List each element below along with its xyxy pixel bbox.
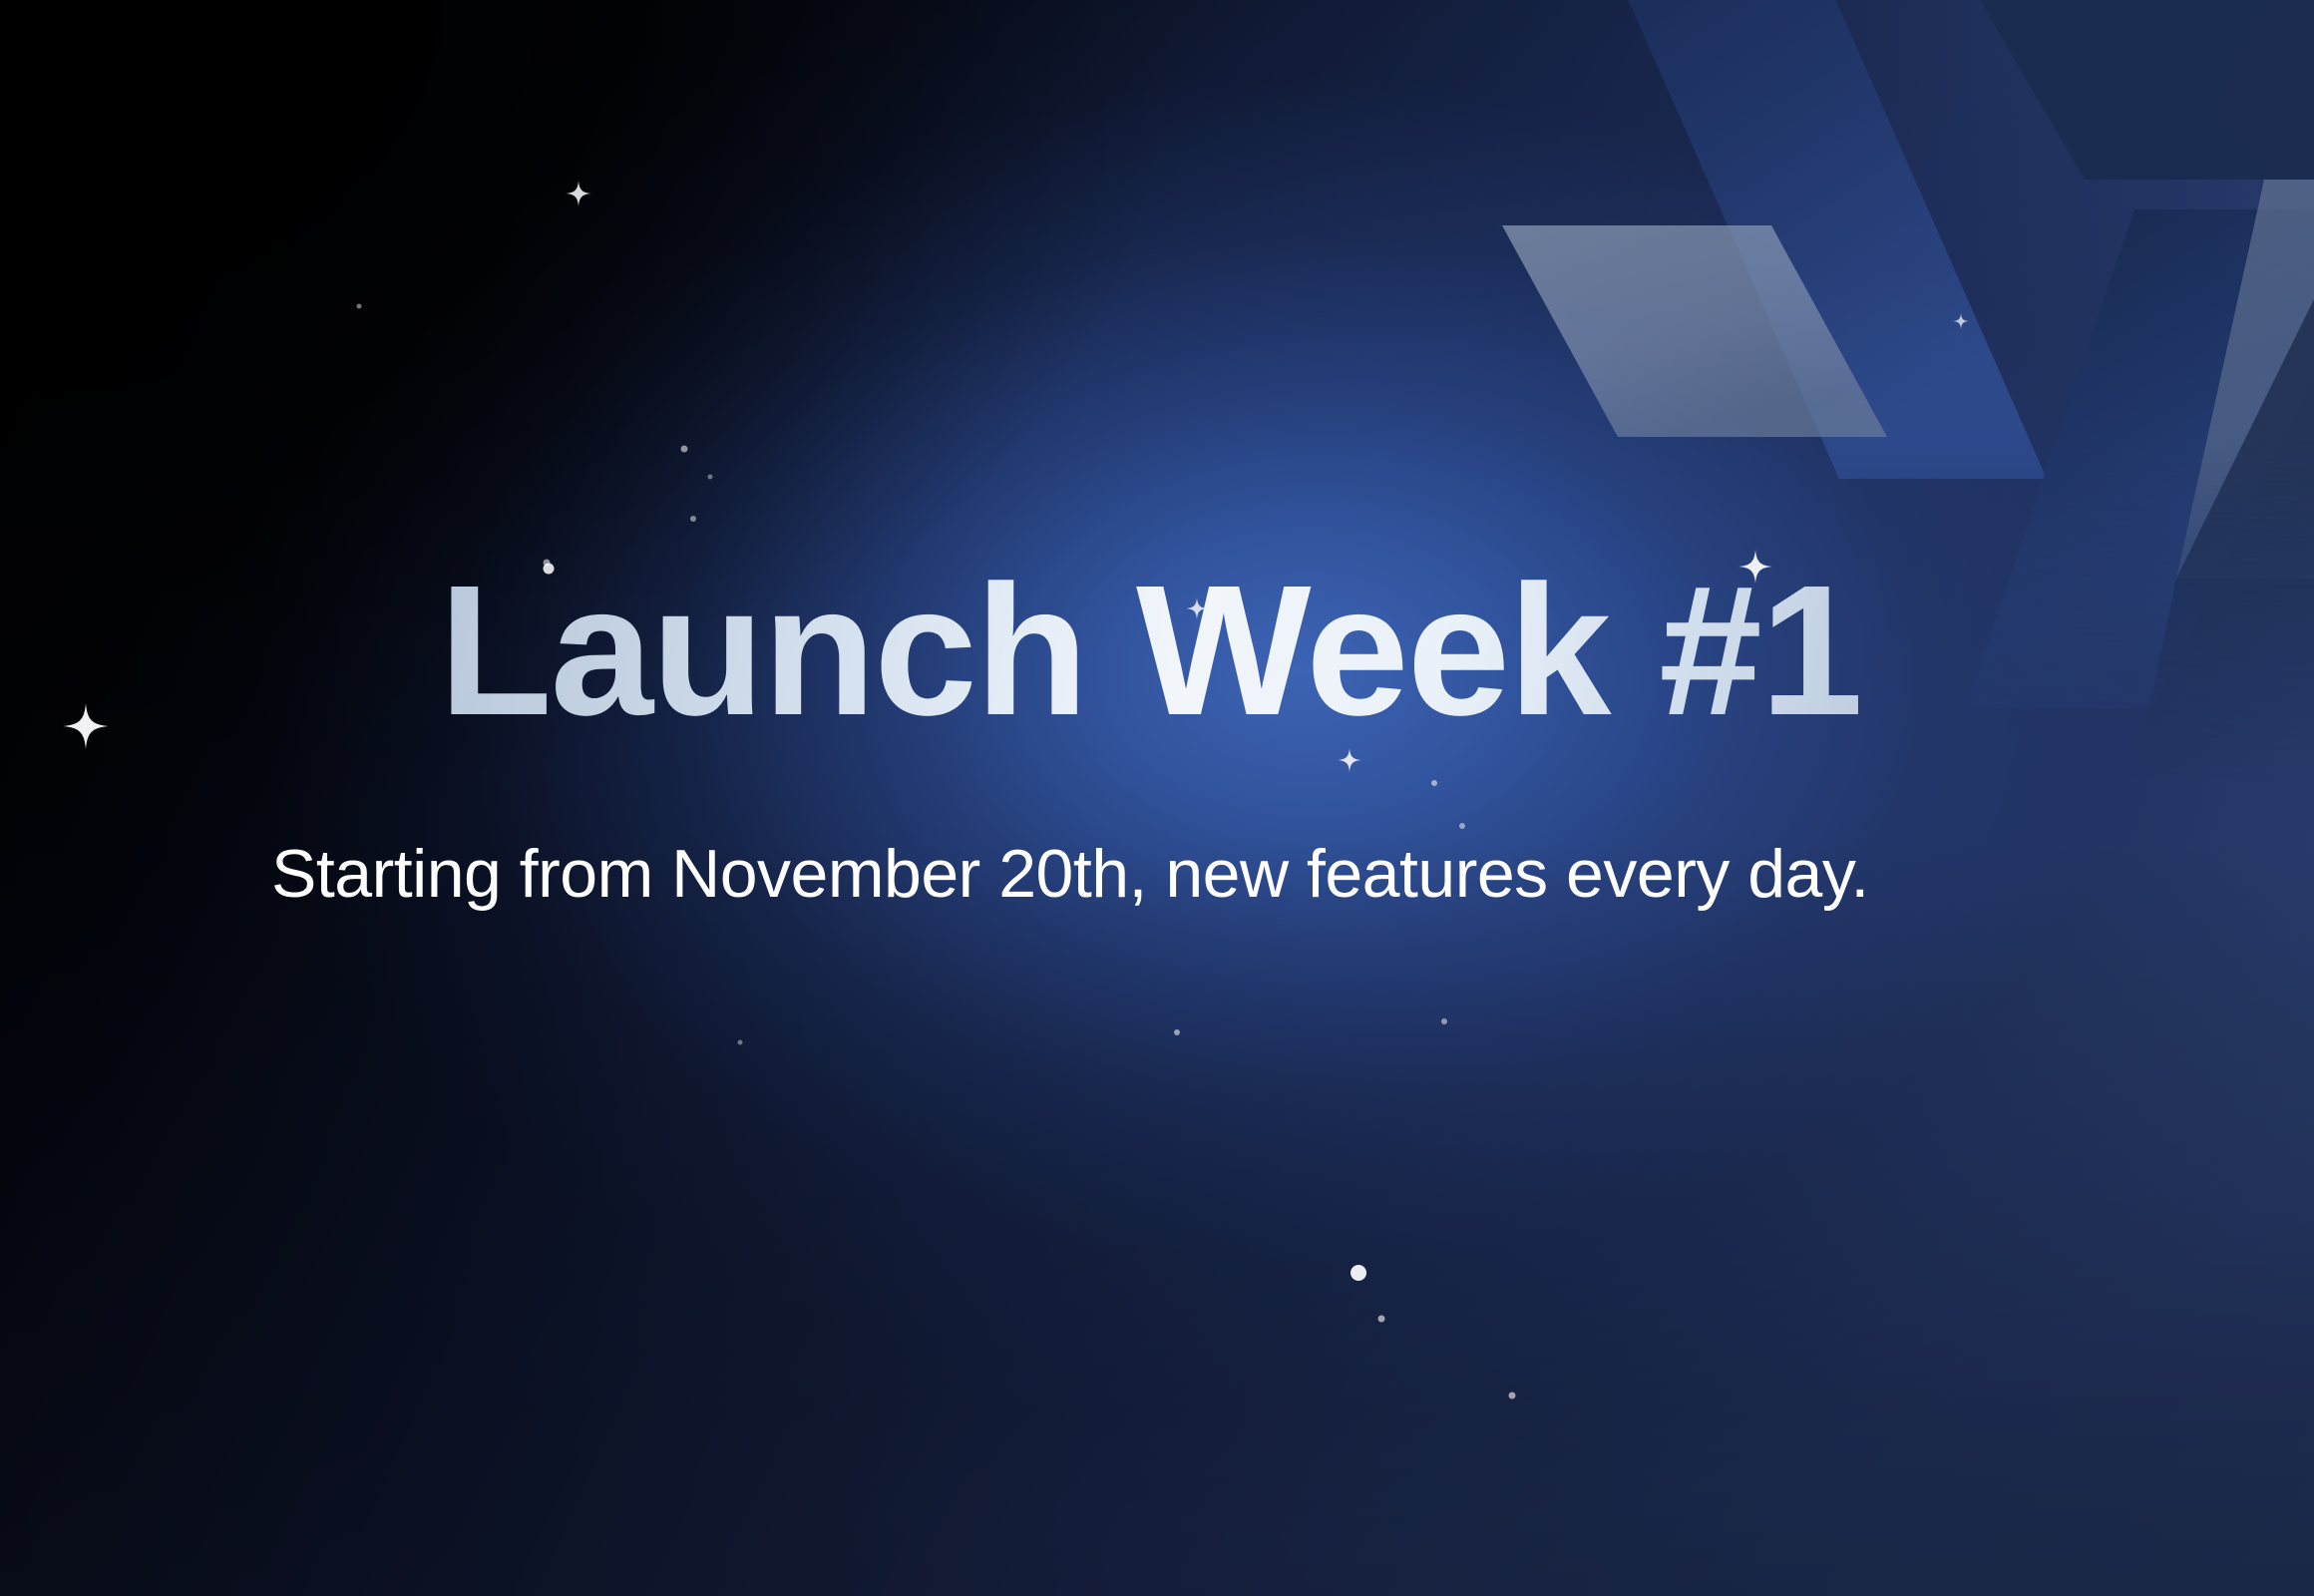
page-title: Launch Week #1 <box>439 559 1861 744</box>
launch-week-hero: Launch Week #1 Starting from November 20… <box>0 0 2314 1596</box>
hero-content: Launch Week #1 Starting from November 20… <box>0 0 2314 1596</box>
page-subtitle: Starting from November 20th, new feature… <box>271 836 1869 912</box>
